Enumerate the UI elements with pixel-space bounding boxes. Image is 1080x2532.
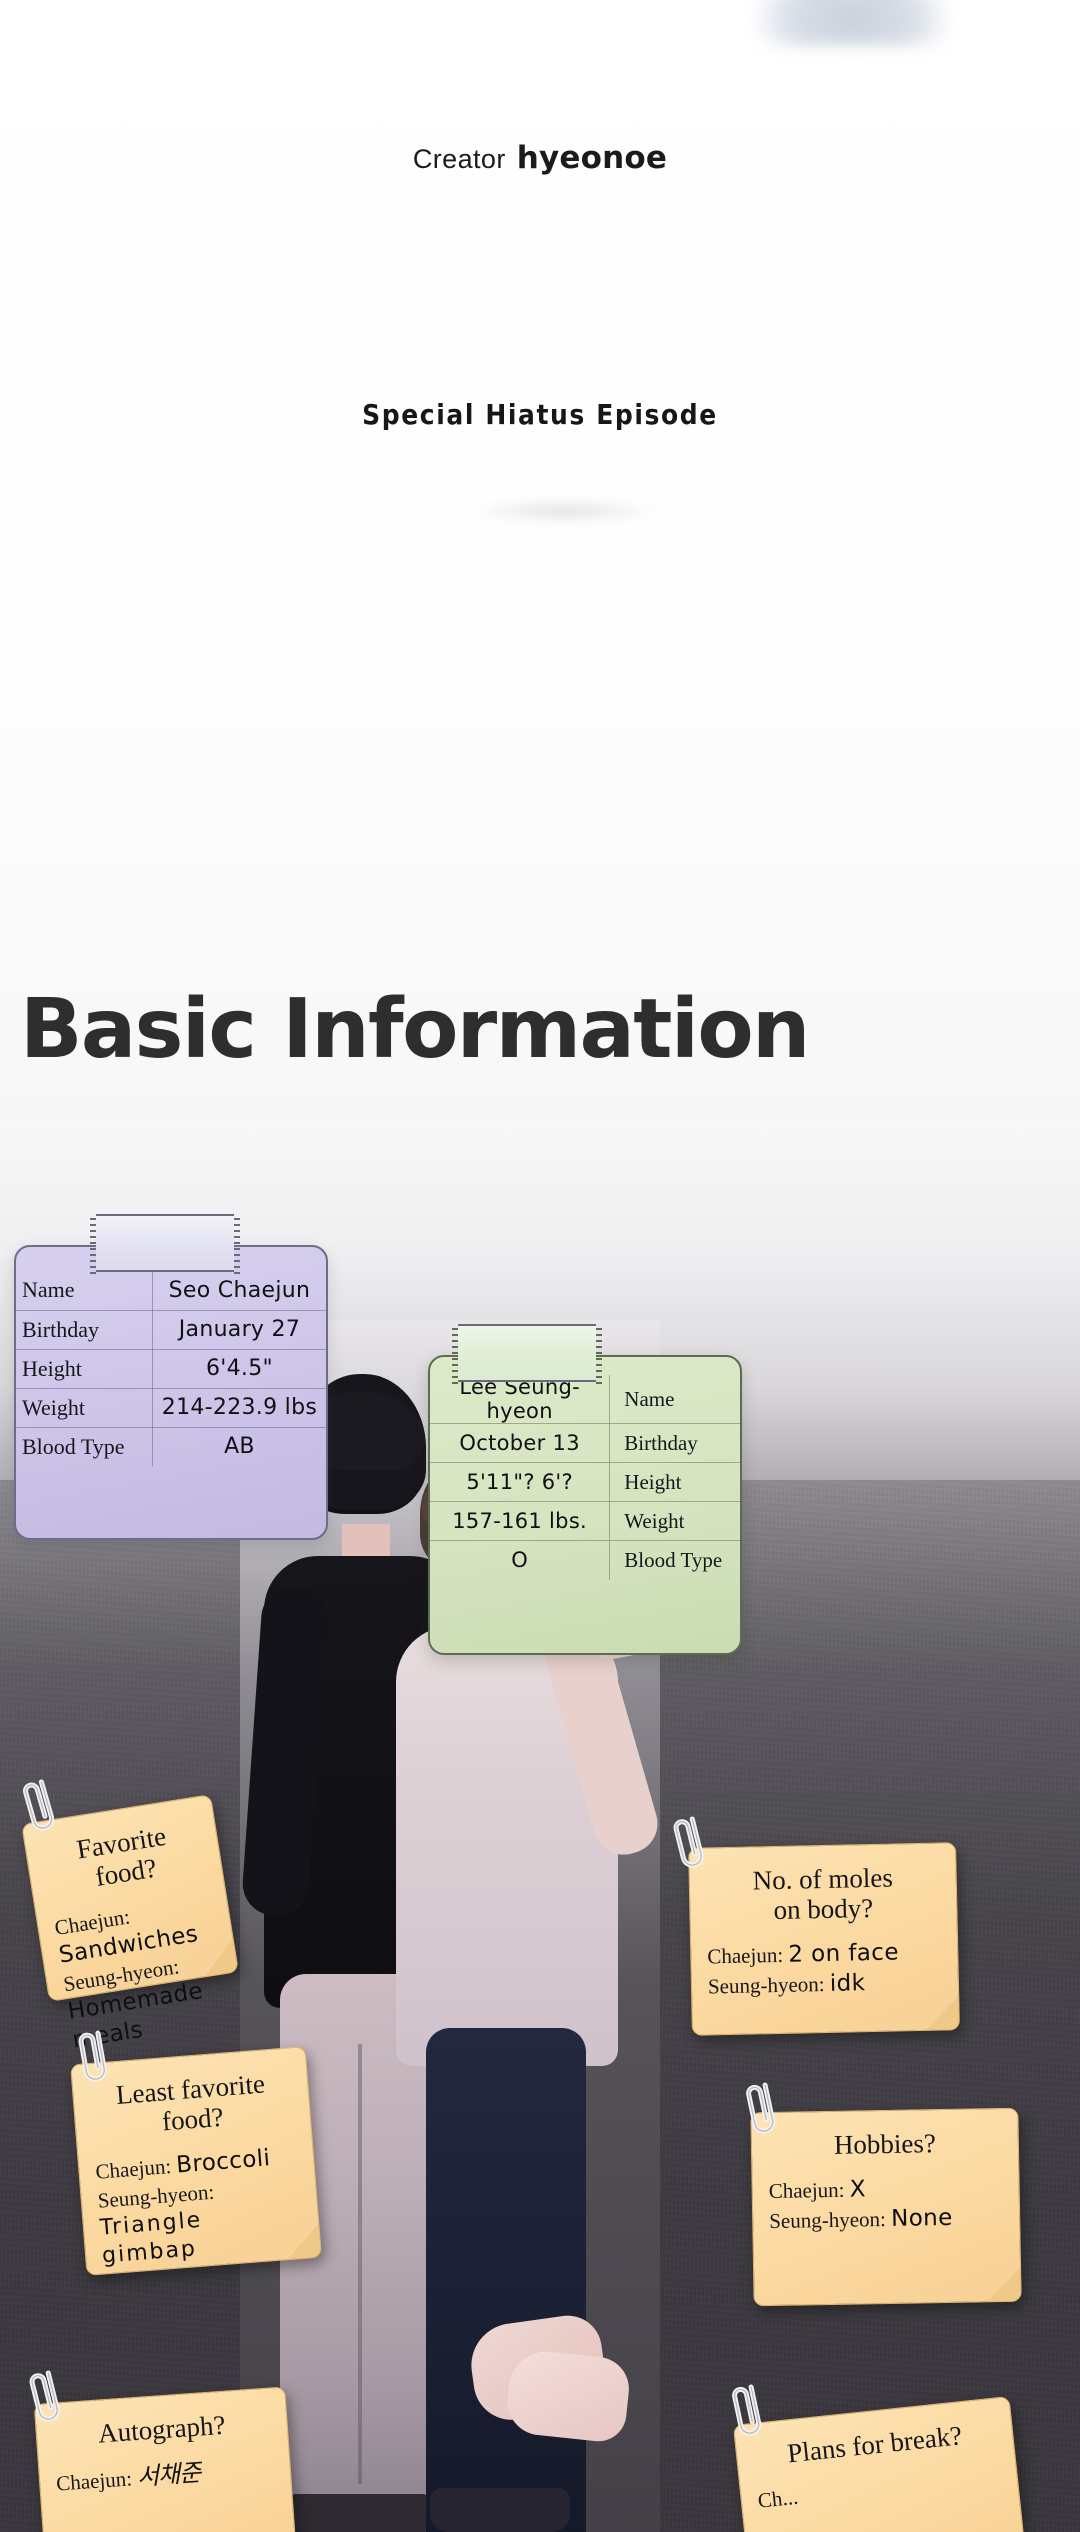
answer-value: 2 on face	[788, 1940, 899, 1968]
page-title: Basic Information	[20, 982, 809, 1077]
answer-row-seunghyeon: Seung-hyeon: Triangle gimbap	[97, 2172, 305, 2271]
table-row: Height 6'4.5"	[16, 1349, 326, 1388]
note-question-line2: on body?	[706, 1892, 941, 1927]
creator-label: Creator	[413, 144, 506, 174]
table-row: O Blood Type	[430, 1541, 740, 1580]
row-value: 6'4.5"	[152, 1349, 326, 1388]
answer-label: Chaejun:	[95, 2154, 172, 2184]
note-question: No. of moles on body?	[705, 1862, 940, 1927]
note-folded-corner	[200, 1938, 239, 1977]
row-label: Weight	[610, 1502, 740, 1541]
paint-smudge-decoration	[470, 498, 660, 524]
note-question-line1: No. of moles	[705, 1862, 940, 1897]
row-value: Seo Chaejun	[152, 1271, 326, 1310]
row-value: 157-161 lbs.	[430, 1502, 610, 1541]
answer-row-seunghyeon: Seung-hyeon: None	[769, 2203, 1003, 2237]
creator-name: hyeonoe	[517, 140, 667, 176]
seunghyeon-shoes	[430, 2488, 570, 2532]
seunghyeon-pants	[426, 2028, 586, 2532]
tape-strip-green-card	[458, 1324, 596, 1382]
signature-scribble: 서채준	[136, 2459, 201, 2491]
row-label: Weight	[16, 1388, 152, 1427]
answer-row-chaejun: Chaejun: X	[768, 2173, 1002, 2207]
note-question: Plans for break?	[752, 2417, 998, 2473]
answer-row-chaejun: Chaejun: 서채준	[55, 2453, 275, 2499]
note-answers: Chaejun: Broccoli Seung-hyeon: Triangle …	[94, 2143, 304, 2271]
answer-value: X	[850, 2177, 867, 2203]
tape-strip-purple-card	[96, 1214, 234, 1272]
table-row: 157-161 lbs. Weight	[430, 1502, 740, 1541]
webtoon-profile-page: Creatorhyeonoe Special Hiatus Episode Ba…	[0, 0, 1080, 2532]
answer-label: Seung-hyeon:	[769, 2207, 886, 2233]
answer-row-chaejun: Ch...	[757, 2463, 1002, 2515]
row-label: Birthday	[16, 1310, 152, 1349]
creator-credit: Creatorhyeonoe	[0, 140, 1080, 176]
answer-label: Seung-hyeon:	[708, 1972, 825, 1998]
note-answers: Chaejun: X Seung-hyeon: None	[768, 2173, 1003, 2236]
row-label: Height	[610, 1463, 740, 1502]
row-value: 214-223.9 lbs	[152, 1388, 326, 1427]
cloud-smudge-decoration	[752, 0, 952, 46]
row-value: AB	[152, 1427, 326, 1466]
answer-label: Chaejun:	[768, 2178, 844, 2203]
table-row: October 13 Birthday	[430, 1424, 740, 1463]
row-value: 5'11"? 6'?	[430, 1463, 610, 1502]
note-question: Hobbies?	[768, 2127, 1002, 2161]
note-answers: Chaejun: 2 on face Seung-hyeon: idk	[707, 1938, 942, 2002]
sticky-note-hobbies: Hobbies? Chaejun: X Seung-hyeon: None	[750, 2108, 1021, 2307]
answer-value: Broccoli	[175, 2146, 271, 2179]
answer-label: Chaejun:	[55, 2467, 132, 2496]
profile-card-lee-seung-hyeon: Lee Seung-hyeon Name October 13 Birthday…	[428, 1355, 742, 1655]
sticky-note-moles: No. of moles on body? Chaejun: 2 on face…	[688, 1842, 960, 2036]
table-row: 5'11"? 6'? Height	[430, 1463, 740, 1502]
note-folded-corner	[987, 2268, 1022, 2303]
note-folded-corner	[925, 1996, 960, 2031]
answer-value: idk	[830, 1970, 866, 1997]
row-value: October 13	[430, 1424, 610, 1463]
clasped-hands-second	[504, 2348, 632, 2444]
row-label: Name	[16, 1271, 152, 1310]
row-value: O	[430, 1541, 610, 1580]
row-label: Name	[610, 1375, 740, 1424]
episode-title: Special Hiatus Episode	[0, 398, 1080, 430]
note-folded-corner	[285, 2224, 322, 2261]
row-label: Height	[16, 1349, 152, 1388]
table-row: Birthday January 27	[16, 1310, 326, 1349]
row-label: Blood Type	[16, 1427, 152, 1466]
answer-value: None	[891, 2205, 953, 2232]
table-row: Blood Type AB	[16, 1427, 326, 1466]
profile-card-seo-chaejun: Name Seo Chaejun Birthday January 27 Hei…	[14, 1245, 328, 1540]
row-label: Blood Type	[610, 1541, 740, 1580]
row-label: Birthday	[610, 1424, 740, 1463]
profile-table-seunghyeon: Lee Seung-hyeon Name October 13 Birthday…	[430, 1375, 740, 1580]
note-question: Autograph?	[52, 2407, 272, 2452]
profile-table-chaejun: Name Seo Chaejun Birthday January 27 Hei…	[16, 1271, 326, 1466]
note-answers: Ch...	[757, 2463, 1002, 2515]
table-row: Weight 214-223.9 lbs	[16, 1388, 326, 1427]
answer-label: Chaejun:	[707, 1943, 783, 1969]
row-value: January 27	[152, 1310, 326, 1349]
table-row: Name Seo Chaejun	[16, 1271, 326, 1310]
table-row: Lee Seung-hyeon Name	[430, 1375, 740, 1424]
note-answers: Chaejun: 서채준	[55, 2453, 275, 2499]
answer-row-seunghyeon: Seung-hyeon: idk	[708, 1967, 943, 2001]
